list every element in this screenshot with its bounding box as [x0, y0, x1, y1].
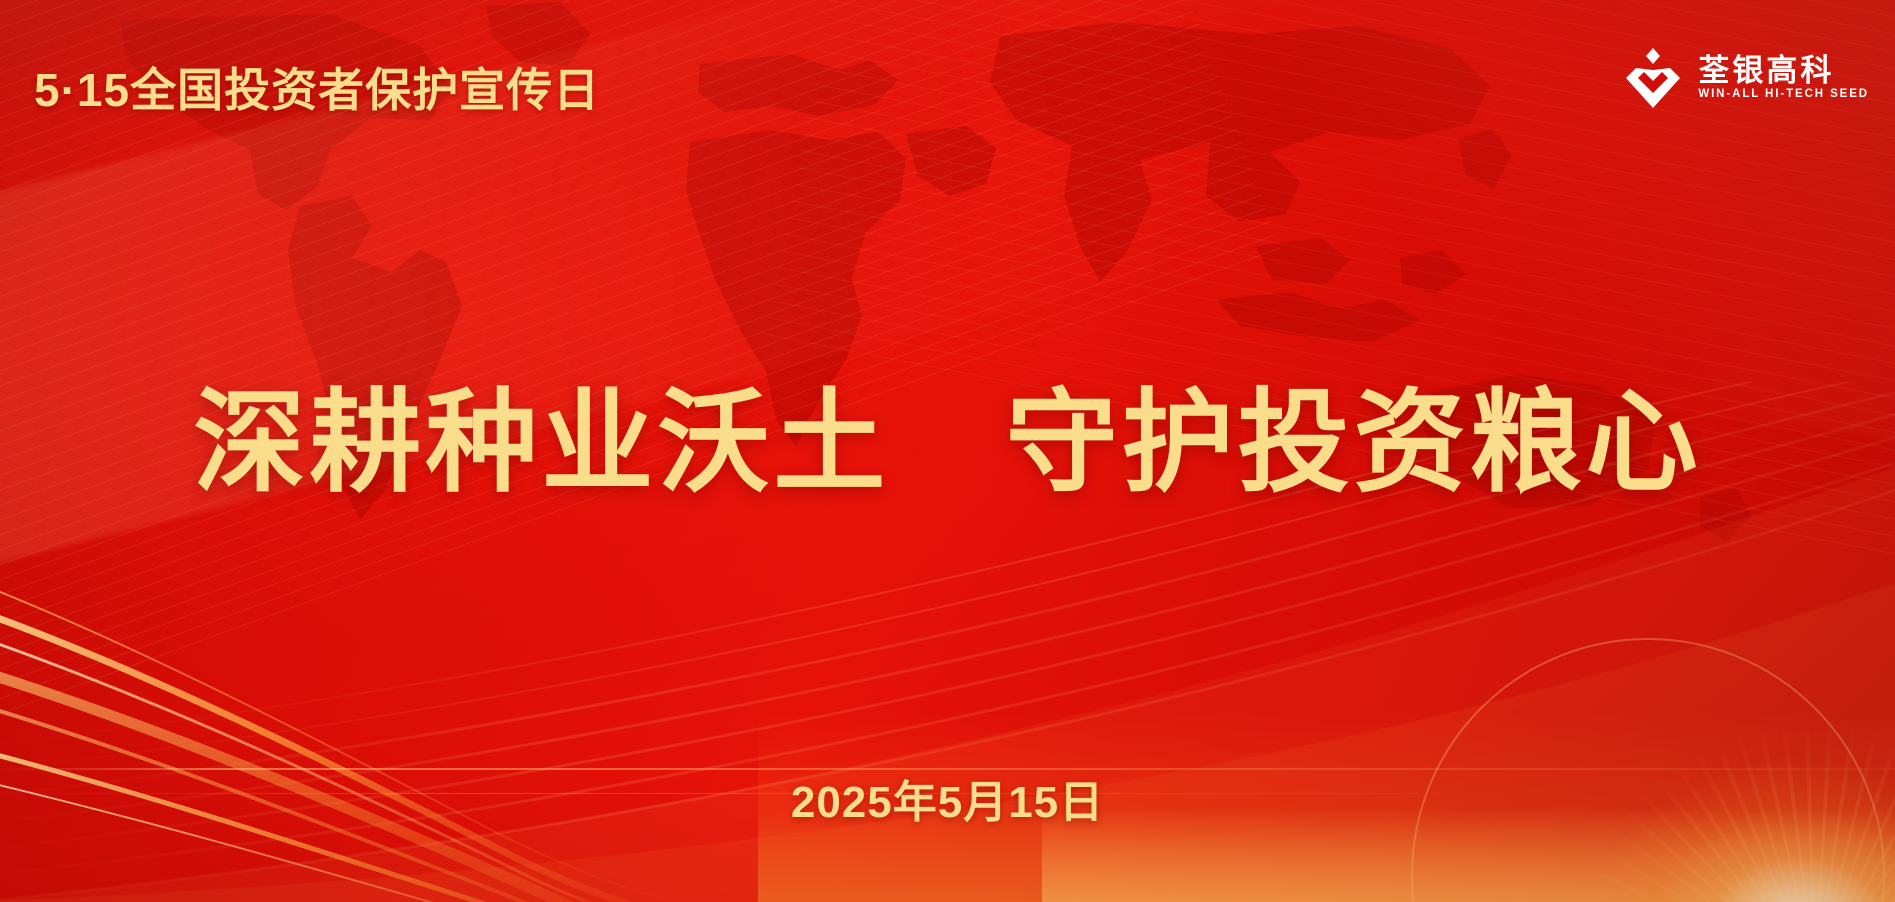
page-title: 深耕种业沃土 守护投资粮心: [0, 352, 1895, 514]
logo-company-name-en: WIN-ALL HI-TECH SEED: [1698, 89, 1869, 101]
campaign-kicker: 5·15全国投资者保护宣传日: [34, 54, 600, 120]
page-title-part-1: 深耕种业沃土: [193, 380, 889, 505]
logo-text-block: 荃银高科 WIN-ALL HI-TECH SEED: [1698, 55, 1869, 101]
logo-company-name-cn: 荃银高科: [1698, 55, 1869, 86]
sprout-chevron-icon: [1622, 48, 1684, 108]
company-logo: 荃银高科 WIN-ALL HI-TECH SEED: [1622, 48, 1869, 108]
investor-protection-day-banner: 5·15全国投资者保护宣传日 荃银高科 WIN-ALL HI-TECH SEED…: [0, 0, 1895, 902]
page-title-part-2: 守护投资粮心: [1006, 380, 1702, 505]
event-date: 2025年5月15日: [0, 766, 1895, 830]
